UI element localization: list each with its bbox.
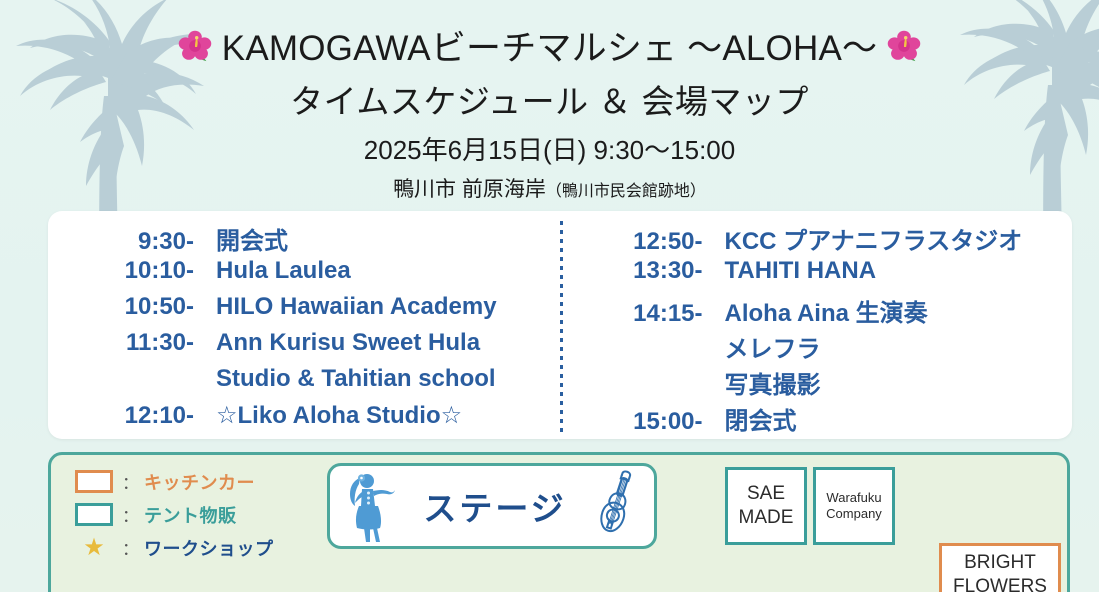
legend-item-workshop: ★ ： ワークショップ: [67, 531, 274, 564]
vendor-line-1: BRIGHT: [964, 551, 1036, 575]
schedule-act: TAHITI HANA: [725, 257, 877, 285]
poster-header: KAMOGAWAビーチマルシェ ～ALOHA～ タイムスケジュール ＆ 会場マッ…: [0, 0, 1099, 203]
page-subtitle: タイムスケジュール ＆ 会場マップ: [0, 75, 1099, 123]
vendor-line-2: Company: [826, 506, 882, 522]
schedule-act: Studio & Tahitian school: [216, 365, 496, 393]
schedule-row: 9:30- 開会式: [84, 221, 562, 257]
poster-canvas: KAMOGAWAビーチマルシェ ～ALOHA～ タイムスケジュール ＆ 会場マッ…: [0, 0, 1099, 592]
vendor-line-1: SAE: [747, 482, 785, 506]
schedule-time: 10:50-: [84, 293, 216, 321]
schedule-row: 11:30- Ann Kurisu Sweet Hula: [84, 329, 562, 365]
schedule-row: 12:50- KCC プアナニフラスタジオ: [595, 221, 1073, 257]
schedule-act: Ann Kurisu Sweet Hula: [216, 329, 480, 357]
legend-label-tent-sales: テント物販: [144, 502, 237, 528]
schedule-row: メレフラ: [595, 329, 1073, 365]
event-place-note: （鴨川市民会館跡地）: [546, 183, 706, 200]
schedule-time: 15:00-: [595, 408, 725, 436]
event-place-name: 鴨川市 前原海岸: [393, 178, 546, 201]
schedule-time: 10:10-: [84, 257, 216, 285]
title-row: KAMOGAWAビーチマルシェ ～ALOHA～: [0, 20, 1099, 71]
schedule-time: 12:50-: [595, 228, 725, 256]
event-place: 鴨川市 前原海岸（鴨川市民会館跡地）: [0, 173, 1099, 203]
vendor-line-1: Warafuku: [826, 490, 881, 506]
legend-colon: ：: [121, 502, 144, 527]
hibiscus-flower-icon-right: [887, 29, 921, 63]
schedule-row: 10:50- HILO Hawaiian Academy: [84, 293, 562, 329]
legend-label-workshop: ワークショップ: [144, 535, 274, 561]
vendor-box-sae-made[interactable]: SAE MADE: [725, 467, 807, 545]
schedule-time: 9:30-: [84, 228, 216, 256]
schedule-row: 写真撮影: [595, 365, 1073, 401]
schedule-act: 開会式: [216, 221, 288, 256]
schedule-row: 10:10- Hula Laulea: [84, 257, 562, 293]
hibiscus-flower-icon-left: [178, 29, 212, 63]
schedule-row: Studio & Tahitian school: [84, 365, 562, 401]
schedule-column-afternoon: 12:50- KCC プアナニフラスタジオ 13:30- TAHITI HANA…: [562, 211, 1073, 439]
schedule-act: 閉会式: [725, 401, 797, 436]
schedule-act: メレフラ: [725, 329, 821, 364]
page-title: KAMOGAWAビーチマルシェ ～ALOHA～: [222, 20, 877, 71]
schedule-column-morning: 9:30- 開会式 10:10- Hula Laulea 10:50- HILO…: [48, 211, 562, 439]
schedule-row: 14:15- Aloha Aina 生演奏: [595, 293, 1073, 329]
star-icon: ★: [67, 536, 121, 560]
schedule-act: ☆Liko Aloha Studio☆: [216, 401, 462, 430]
vendor-line-2: MADE: [739, 506, 794, 530]
vendor-box-warafuku-company[interactable]: Warafuku Company: [813, 467, 895, 545]
schedule-act: Hula Laulea: [216, 257, 351, 285]
legend-item-kitchen-car: ： キッチンカー: [67, 465, 274, 498]
schedule-act: 写真撮影: [725, 365, 821, 400]
vendor-line-2: FLOWERS: [953, 575, 1047, 592]
legend-item-tent-sales: ： テント物販: [67, 498, 274, 531]
schedule-act: HILO Hawaiian Academy: [216, 293, 497, 321]
stage-area-box[interactable]: ステージ: [327, 463, 657, 549]
schedule-time: 11:30-: [84, 329, 216, 357]
schedule-act: Aloha Aina 生演奏: [725, 293, 928, 328]
event-date: 2025年6月15日(日) 9:30～15:00: [0, 130, 1099, 167]
legend-label-kitchen-car: キッチンカー: [144, 469, 255, 495]
kitchen-car-swatch-icon: [67, 470, 121, 493]
legend-colon: ：: [121, 535, 144, 560]
schedule-time: 12:10-: [84, 402, 216, 430]
vendor-box-bright-flowers[interactable]: BRIGHT FLOWERS: [939, 543, 1061, 592]
schedule-time: 13:30-: [595, 257, 725, 285]
map-legend: ： キッチンカー ： テント物販 ★ ： ワークショップ: [67, 465, 274, 564]
schedule-act: KCC プアナニフラスタジオ: [725, 221, 1023, 256]
schedule-time: 14:15-: [595, 300, 725, 328]
schedule-panel: 9:30- 開会式 10:10- Hula Laulea 10:50- HILO…: [48, 211, 1072, 439]
venue-map-panel: ： キッチンカー ： テント物販 ★ ： ワークショップ: [48, 452, 1070, 592]
schedule-row: 13:30- TAHITI HANA: [595, 257, 1073, 293]
legend-colon: ：: [121, 469, 144, 494]
ukulele-icon: [590, 469, 642, 543]
hula-dancer-icon: [342, 470, 400, 542]
tent-sales-swatch-icon: [67, 503, 121, 526]
schedule-row: 12:10- ☆Liko Aloha Studio☆: [84, 401, 562, 437]
schedule-row: 15:00- 閉会式: [595, 401, 1073, 437]
stage-label: ステージ: [423, 482, 566, 530]
